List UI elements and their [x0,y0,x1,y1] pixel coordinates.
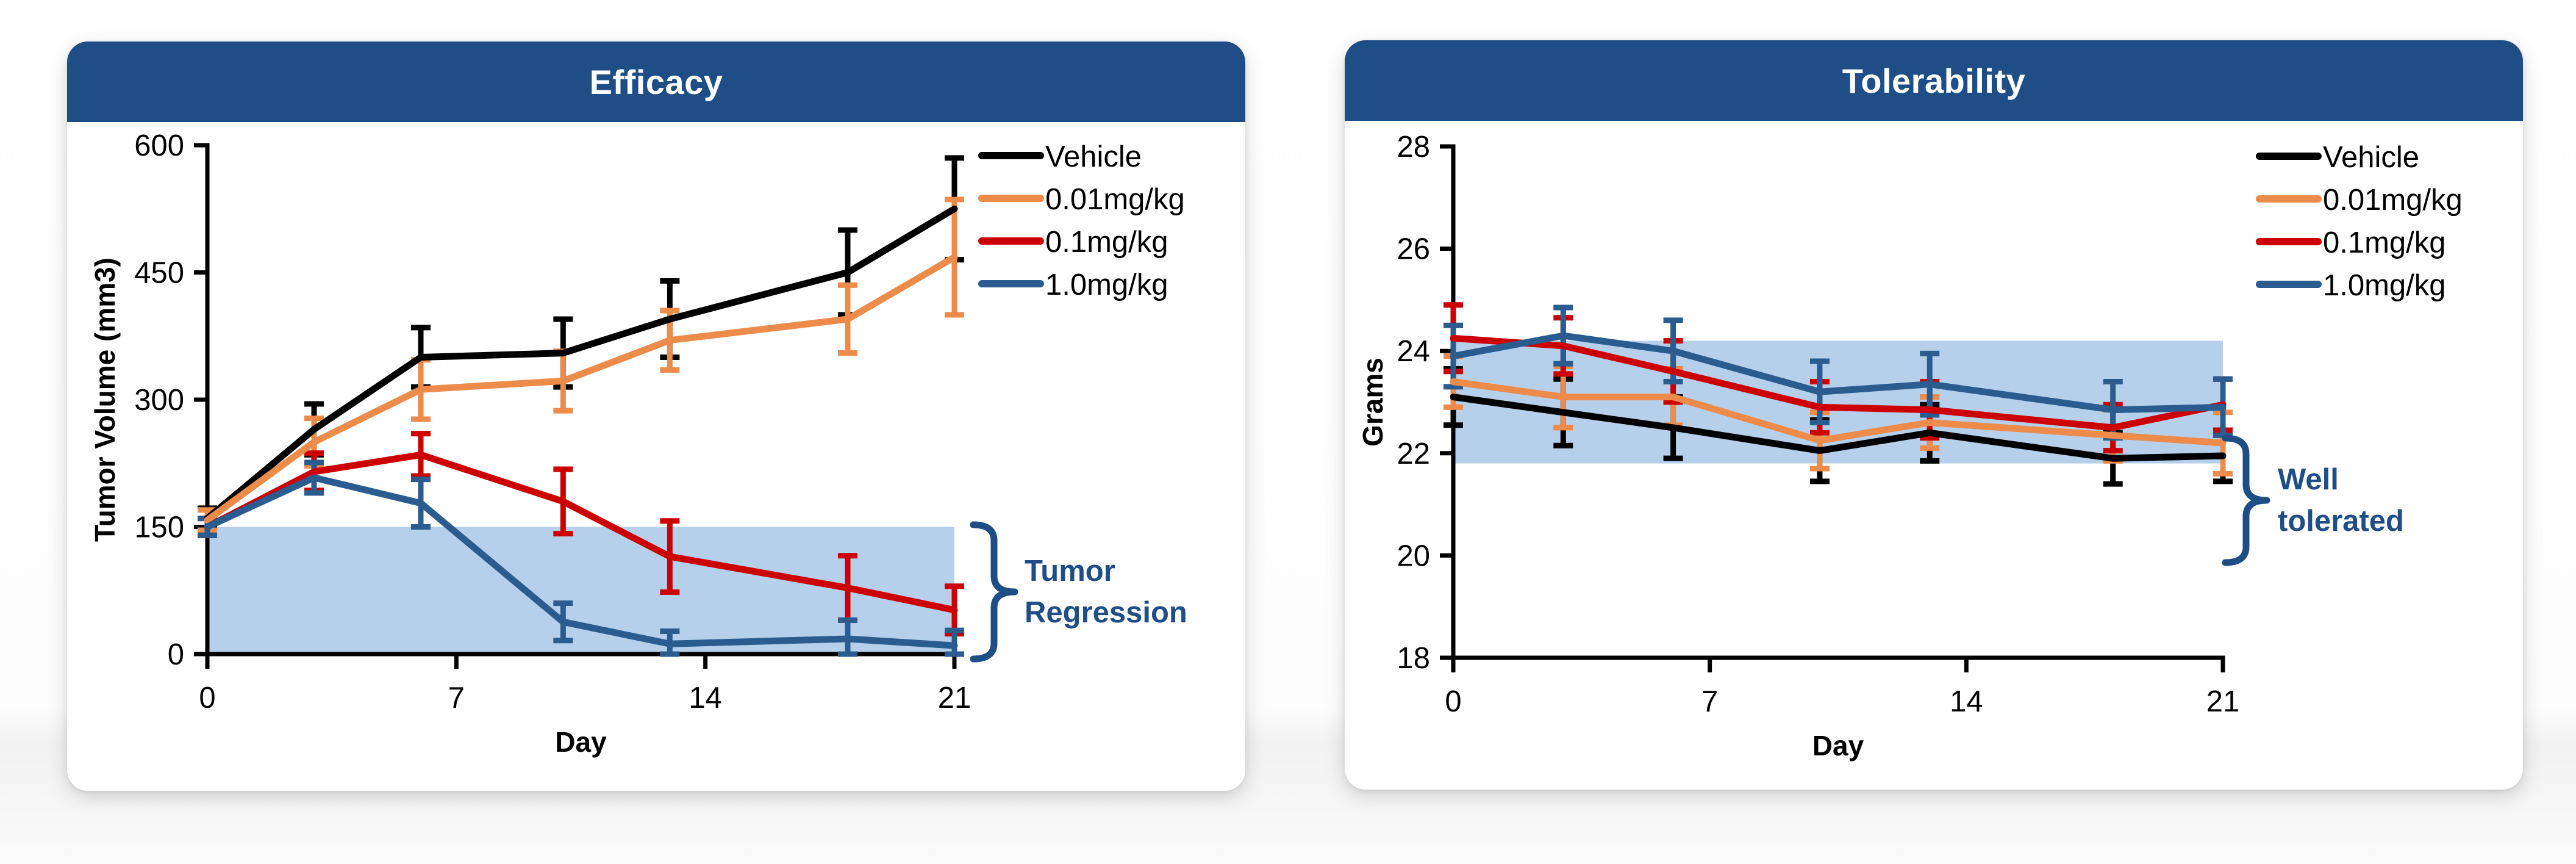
page-title: Efficacy [590,62,723,102]
y-tick-label: 300 [134,384,184,417]
x-tick-label: 7 [448,682,465,715]
x-axis-title: Day [1812,730,1864,761]
legend-label-0.01mg/kg: 0.01mg/kg [1045,183,1185,216]
x-tick-label: 0 [1445,685,1461,718]
annotation-brace [973,525,1015,659]
shaded-band-efficacy [207,527,954,655]
tolerability-panel-header: Tolerability [1345,40,2523,121]
y-tick-label: 22 [1397,437,1430,470]
x-tick-label: 0 [199,682,215,715]
efficacy-panel: Efficacy 0150300450600071421DayTumor Vol… [67,41,1245,791]
legend-label-0.1mg/kg: 0.1mg/kg [1045,226,1168,259]
x-tick-label: 21 [2206,685,2240,718]
x-tick-label: 14 [689,682,722,715]
slide-canvas: Efficacy 0150300450600071421DayTumor Vol… [0,0,2576,864]
annotation-brace [2225,438,2267,563]
efficacy-panel-header: Efficacy [67,41,1245,122]
legend-label-Vehicle: Vehicle [2323,141,2419,174]
annotation-label: tolerated [2278,505,2404,538]
legend-label-1.0mg/kg: 1.0mg/kg [2323,269,2446,302]
legend-label-0.01mg/kg: 0.01mg/kg [2323,184,2463,217]
tolerability-panel: Tolerability 182022242628071421DayGramsV… [1345,40,2523,790]
y-axis-title: Grams [1357,358,1389,447]
x-tick-label: 21 [938,682,971,715]
tolerability-chart-area: 182022242628071421DayGramsVehicle0.01mg/… [1345,121,2523,790]
efficacy-line-chart: 0150300450600071421DayTumor Volume (mm3)… [67,122,1245,791]
annotation-label: Regression [1025,596,1187,629]
annotation-label: Tumor [1025,555,1115,588]
y-tick-label: 150 [134,511,184,544]
y-tick-label: 24 [1397,335,1430,368]
x-axis-title: Day [555,726,607,758]
x-tick-label: 14 [1950,685,1983,718]
y-tick-label: 20 [1397,539,1430,572]
y-tick-label: 0 [168,638,184,671]
y-tick-label: 28 [1397,131,1430,164]
page-title: Tolerability [1842,61,2026,101]
legend-label-0.1mg/kg: 0.1mg/kg [2323,226,2446,259]
y-tick-label: 18 [1397,642,1430,675]
y-axis-title: Tumor Volume (mm3) [89,257,121,542]
efficacy-chart-area: 0150300450600071421DayTumor Volume (mm3)… [67,122,1245,791]
annotation-label: Well [2278,463,2339,496]
legend-label-1.0mg/kg: 1.0mg/kg [1045,268,1168,301]
tolerability-line-chart: 182022242628071421DayGramsVehicle0.01mg/… [1345,121,2523,790]
x-tick-label: 7 [1701,685,1718,718]
y-tick-label: 600 [134,129,184,162]
legend-label-Vehicle: Vehicle [1045,140,1142,173]
y-tick-label: 450 [134,257,184,290]
y-tick-label: 26 [1397,233,1430,266]
